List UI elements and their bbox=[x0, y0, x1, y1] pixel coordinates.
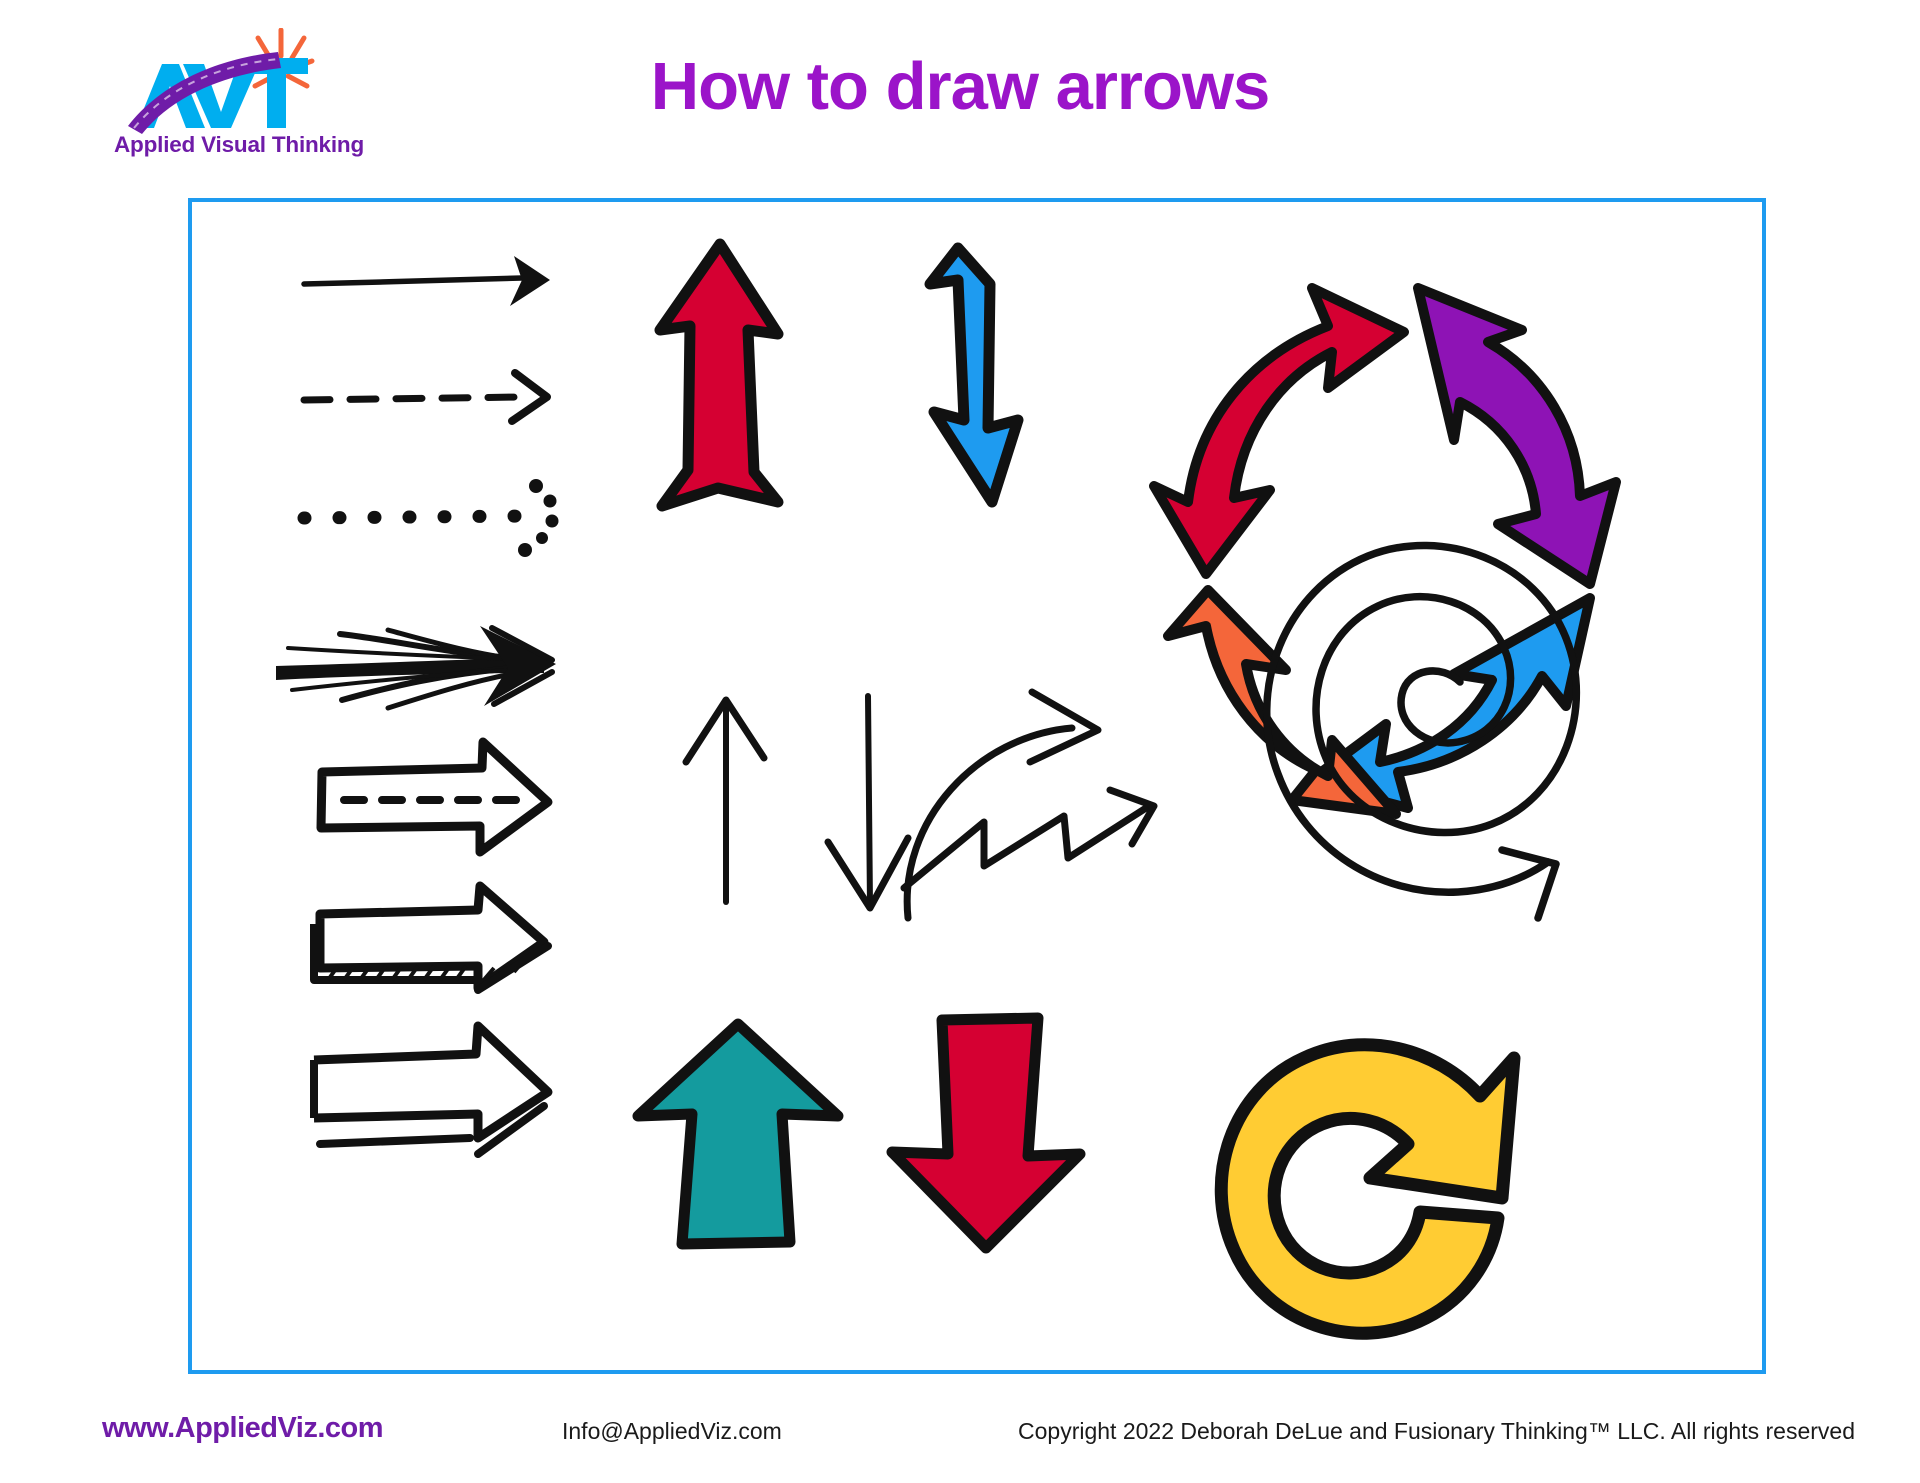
page-title: How to draw arrows bbox=[0, 48, 1920, 125]
yellow-refresh-arrow bbox=[1221, 1045, 1514, 1333]
thin-up-arrow bbox=[686, 700, 764, 902]
footer-copyright: Copyright 2022 Deborah DeLue and Fusiona… bbox=[1018, 1418, 1855, 1445]
dotted-line-arrow bbox=[304, 479, 559, 557]
blue-down-arrow bbox=[930, 248, 1018, 502]
curved-arc-arrow bbox=[907, 692, 1098, 918]
open-sketch-block-arrow bbox=[314, 1026, 548, 1154]
logo-wordmark: Applied Visual Thinking bbox=[114, 132, 364, 158]
cycle-arrow-purple bbox=[1418, 288, 1616, 584]
dashed-line-arrow bbox=[304, 373, 547, 421]
arrow-gallery-canvas bbox=[192, 202, 1762, 1370]
three-d-block-arrow bbox=[314, 886, 548, 990]
thin-down-arrow bbox=[828, 696, 908, 908]
teal-up-arrow bbox=[638, 1024, 838, 1244]
outlined-block-arrow-dashed bbox=[321, 742, 548, 852]
solid-line-arrow bbox=[304, 256, 550, 306]
feathered-brush-arrow bbox=[276, 626, 556, 708]
cycle-arrow-crimson bbox=[1154, 288, 1404, 574]
crimson-up-arrow bbox=[660, 244, 778, 506]
page-footer: www.AppliedViz.com Info@AppliedViz.com C… bbox=[0, 1390, 1920, 1483]
arrow-gallery-frame bbox=[188, 198, 1766, 1374]
page-header: Applied Visual Thinking How to draw arro… bbox=[0, 0, 1920, 180]
footer-website-link[interactable]: www.AppliedViz.com bbox=[102, 1412, 383, 1445]
footer-email-link[interactable]: Info@AppliedViz.com bbox=[562, 1418, 782, 1445]
spiral-arrow bbox=[1267, 545, 1577, 918]
crimson-down-arrow bbox=[892, 1018, 1080, 1248]
